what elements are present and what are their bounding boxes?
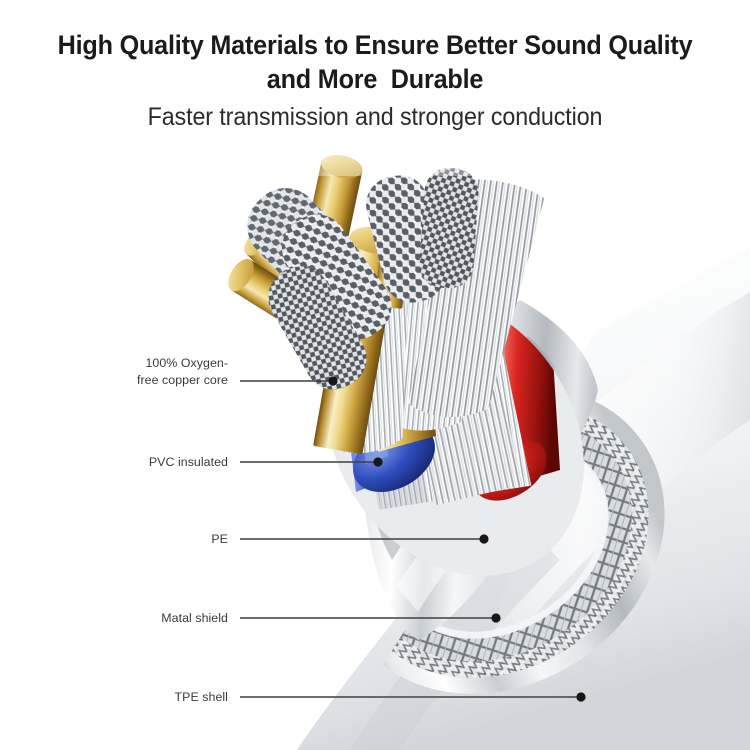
callout-label-copper-core: 100% Oxygen- free copper core — [28, 355, 228, 389]
callout-label-pvc-insulated: PVC insulated — [28, 454, 228, 471]
callout-label-pe: PE — [28, 531, 228, 548]
product-infographic-page: High Quality Materials to Ensure Better … — [0, 0, 750, 750]
callout-label-tpe-shell: TPE shell — [28, 689, 228, 706]
callout-label-matal-shield: Matal shield — [28, 610, 228, 627]
